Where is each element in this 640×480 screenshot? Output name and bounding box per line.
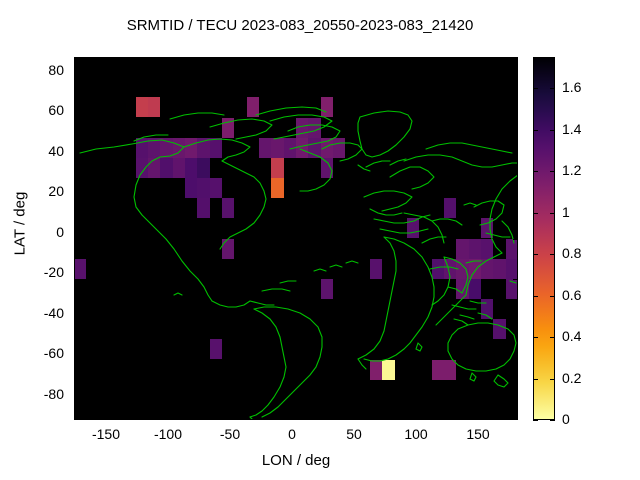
colorbar-tickmark xyxy=(550,337,555,338)
ytick-label: 60 xyxy=(14,102,64,118)
colorbar-tickmark xyxy=(533,420,538,421)
colorbar-tick-label: 1.4 xyxy=(562,121,612,137)
ytick-label: -80 xyxy=(14,386,64,402)
colorbar-tickmark xyxy=(533,379,538,380)
colorbar-tick-label: 0.2 xyxy=(562,370,612,386)
xtick-label: -100 xyxy=(138,426,198,442)
colorbar-tickmark xyxy=(550,213,555,214)
ytick-label: -40 xyxy=(14,305,64,321)
colorbar-gradient xyxy=(534,58,554,419)
colorbar-tick-label: 0.4 xyxy=(562,328,612,344)
colorbar-tick-label: 0.8 xyxy=(562,245,612,261)
xtick-label: 150 xyxy=(448,426,508,442)
colorbar-tickmark xyxy=(533,213,538,214)
ytick-label: 80 xyxy=(14,62,64,78)
xtick-label: -50 xyxy=(200,426,260,442)
colorbar-tick-label: 1.2 xyxy=(562,162,612,178)
xtick-label: 0 xyxy=(262,426,322,442)
colorbar-tickmark xyxy=(533,88,538,89)
colorbar-tickmark xyxy=(550,296,555,297)
colorbar-tickmark xyxy=(533,337,538,338)
colorbar xyxy=(533,57,555,420)
colorbar-tickmark xyxy=(550,130,555,131)
colorbar-tick-label: 1.6 xyxy=(562,79,612,95)
chart-root: SRMTID / TECU 2023-083_20550-2023-083_21… xyxy=(0,0,640,480)
y-axis-label: LAT / deg xyxy=(12,174,29,274)
colorbar-tickmark xyxy=(550,88,555,89)
xtick-label: -150 xyxy=(76,426,136,442)
map-plot-area xyxy=(74,57,518,420)
colorbar-tickmark xyxy=(550,171,555,172)
colorbar-tickmark xyxy=(550,379,555,380)
colorbar-tickmark xyxy=(533,254,538,255)
x-axis-label: LON / deg xyxy=(74,452,518,469)
colorbar-tickmark xyxy=(533,296,538,297)
colorbar-tickmark xyxy=(550,254,555,255)
colorbar-tick-label: 0.6 xyxy=(562,287,612,303)
ytick-label: -60 xyxy=(14,345,64,361)
ytick-label: 40 xyxy=(14,143,64,159)
colorbar-tick-label: 1 xyxy=(562,204,612,220)
colorbar-tickmark xyxy=(533,130,538,131)
colorbar-tickmark xyxy=(550,420,555,421)
colorbar-tickmark xyxy=(533,171,538,172)
colorbar-tick-label: 0 xyxy=(562,411,612,427)
page-title: SRMTID / TECU 2023-083_20550-2023-083_21… xyxy=(0,17,600,34)
coastline-layer xyxy=(74,57,518,420)
xtick-label: 100 xyxy=(386,426,446,442)
xtick-label: 50 xyxy=(324,426,384,442)
